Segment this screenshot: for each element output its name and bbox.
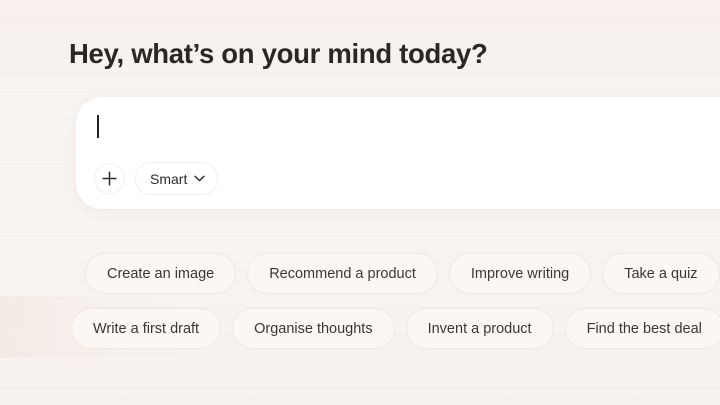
prompt-input[interactable]	[96, 111, 720, 153]
model-selector[interactable]: Smart	[135, 162, 218, 195]
suggestion-chip[interactable]: Create an image	[85, 253, 236, 294]
suggestion-chip[interactable]: Invent a product	[406, 308, 554, 349]
suggestion-row-2: Write a first draftOrganise thoughtsInve…	[71, 308, 720, 349]
suggestion-chip[interactable]: Find the best deal	[565, 308, 720, 349]
suggestion-chip[interactable]: Write a first draft	[71, 308, 221, 349]
app-screen: Hey, what’s on your mind today? Smart Cr…	[0, 0, 720, 405]
composer-card: Smart	[76, 97, 720, 209]
suggestion-chip[interactable]: Improve writing	[449, 253, 591, 294]
plus-icon	[101, 170, 118, 187]
model-selector-label: Smart	[150, 171, 187, 187]
text-caret	[97, 115, 99, 138]
suggestion-chip[interactable]: Take a quiz	[602, 253, 719, 294]
suggestion-row-1: Create an imageRecommend a productImprov…	[85, 253, 720, 294]
page-title: Hey, what’s on your mind today?	[69, 36, 488, 72]
composer-toolbar: Smart	[94, 162, 218, 195]
suggestion-chip[interactable]: Organise thoughts	[232, 308, 395, 349]
add-attachment-button[interactable]	[94, 163, 125, 194]
chevron-down-icon	[194, 175, 205, 182]
suggestion-chip[interactable]: Recommend a product	[247, 253, 438, 294]
